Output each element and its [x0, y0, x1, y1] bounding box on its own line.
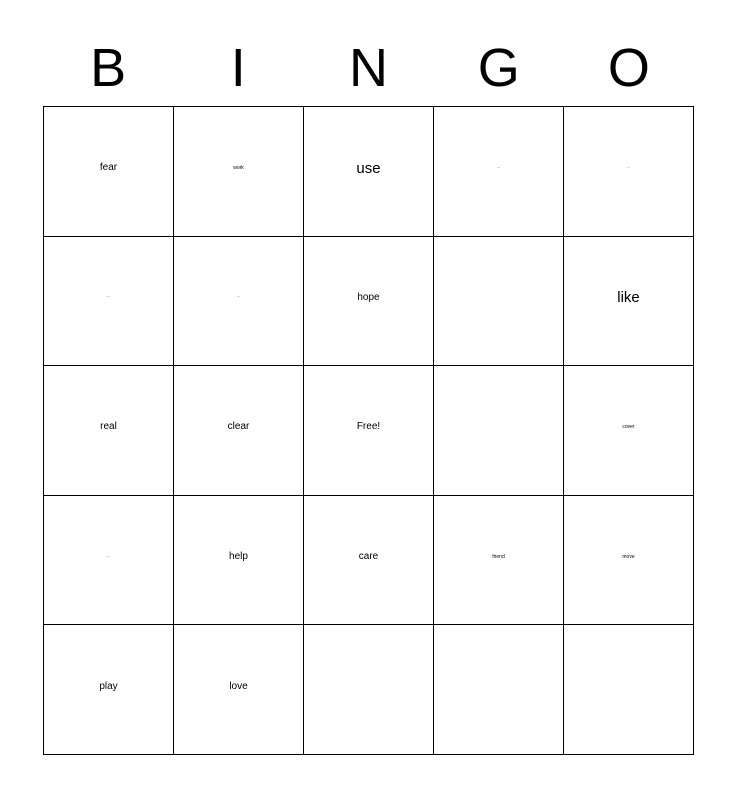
bingo-cell-label: play: [44, 682, 173, 692]
bingo-grid: fear work use name sleep speak happy hop…: [43, 106, 694, 755]
bingo-row: fear work use name sleep: [44, 107, 694, 237]
bingo-cell-label: sense: [44, 557, 173, 558]
bingo-card: B I N G O fear work use name sleep speak…: [0, 0, 736, 800]
bingo-cell-b3[interactable]: real: [44, 366, 174, 496]
bingo-cell-b2[interactable]: speak: [44, 237, 174, 367]
bingo-cell-label: fear: [44, 163, 173, 173]
bingo-cell-label: friend: [434, 555, 563, 560]
bingo-row: real clear Free! respect cover: [44, 366, 694, 496]
bingo-cell-label: like: [564, 290, 693, 305]
bingo-cell-o2[interactable]: like: [564, 237, 694, 367]
bingo-header-letter-g: G: [434, 30, 564, 106]
bingo-cell-b4[interactable]: sense: [44, 496, 174, 626]
bingo-cell-label: speak: [44, 297, 173, 298]
bingo-cell-i4[interactable]: help: [174, 496, 304, 626]
bingo-cell-label: hope: [304, 293, 433, 303]
bingo-header-letter-o: O: [564, 30, 694, 106]
bingo-cell-b1[interactable]: fear: [44, 107, 174, 237]
bingo-cell-o5[interactable]: appear: [564, 625, 694, 755]
bingo-header-letter-b: B: [43, 30, 173, 106]
bingo-row: sense help care friend move: [44, 496, 694, 626]
bingo-cell-n2[interactable]: hope: [304, 237, 434, 367]
bingo-cell-i1[interactable]: work: [174, 107, 304, 237]
bingo-cell-label: love: [174, 682, 303, 692]
bingo-cell-label: name: [434, 168, 563, 169]
bingo-cell-g3[interactable]: respect: [434, 366, 564, 496]
bingo-cell-i3[interactable]: clear: [174, 366, 304, 496]
bingo-cell-o1[interactable]: sleep: [564, 107, 694, 237]
bingo-cell-g2[interactable]: believe: [434, 237, 564, 367]
bingo-cell-o3[interactable]: cover: [564, 366, 694, 496]
bingo-header-letter-i: I: [173, 30, 303, 106]
bingo-cell-b5[interactable]: play: [44, 625, 174, 755]
bingo-cell-i5[interactable]: love: [174, 625, 304, 755]
bingo-cell-label: real: [44, 422, 173, 432]
bingo-header: B I N G O: [43, 30, 694, 106]
bingo-row: play love comfort comfort appear: [44, 625, 694, 755]
bingo-row: speak happy hope believe like: [44, 237, 694, 367]
bingo-cell-g1[interactable]: name: [434, 107, 564, 237]
bingo-cell-label: clear: [174, 422, 303, 432]
bingo-cell-n1[interactable]: use: [304, 107, 434, 237]
bingo-cell-g4[interactable]: friend: [434, 496, 564, 626]
bingo-cell-label: move: [564, 555, 693, 560]
bingo-cell-label: care: [304, 552, 433, 562]
bingo-cell-n5[interactable]: comfort: [304, 625, 434, 755]
bingo-cell-o4[interactable]: move: [564, 496, 694, 626]
bingo-header-letter-n: N: [303, 30, 433, 106]
bingo-cell-label: sleep: [564, 168, 693, 169]
bingo-cell-label: work: [174, 166, 303, 171]
bingo-cell-label: help: [174, 552, 303, 562]
bingo-cell-label: happy: [174, 297, 303, 298]
bingo-cell-g5[interactable]: comfort: [434, 625, 564, 755]
bingo-cell-n4[interactable]: care: [304, 496, 434, 626]
bingo-cell-label: use: [304, 161, 433, 176]
bingo-cell-label: cover: [564, 425, 693, 430]
bingo-cell-i2[interactable]: happy: [174, 237, 304, 367]
bingo-free-space-label: Free!: [304, 422, 433, 432]
bingo-cell-free-space[interactable]: Free!: [304, 366, 434, 496]
